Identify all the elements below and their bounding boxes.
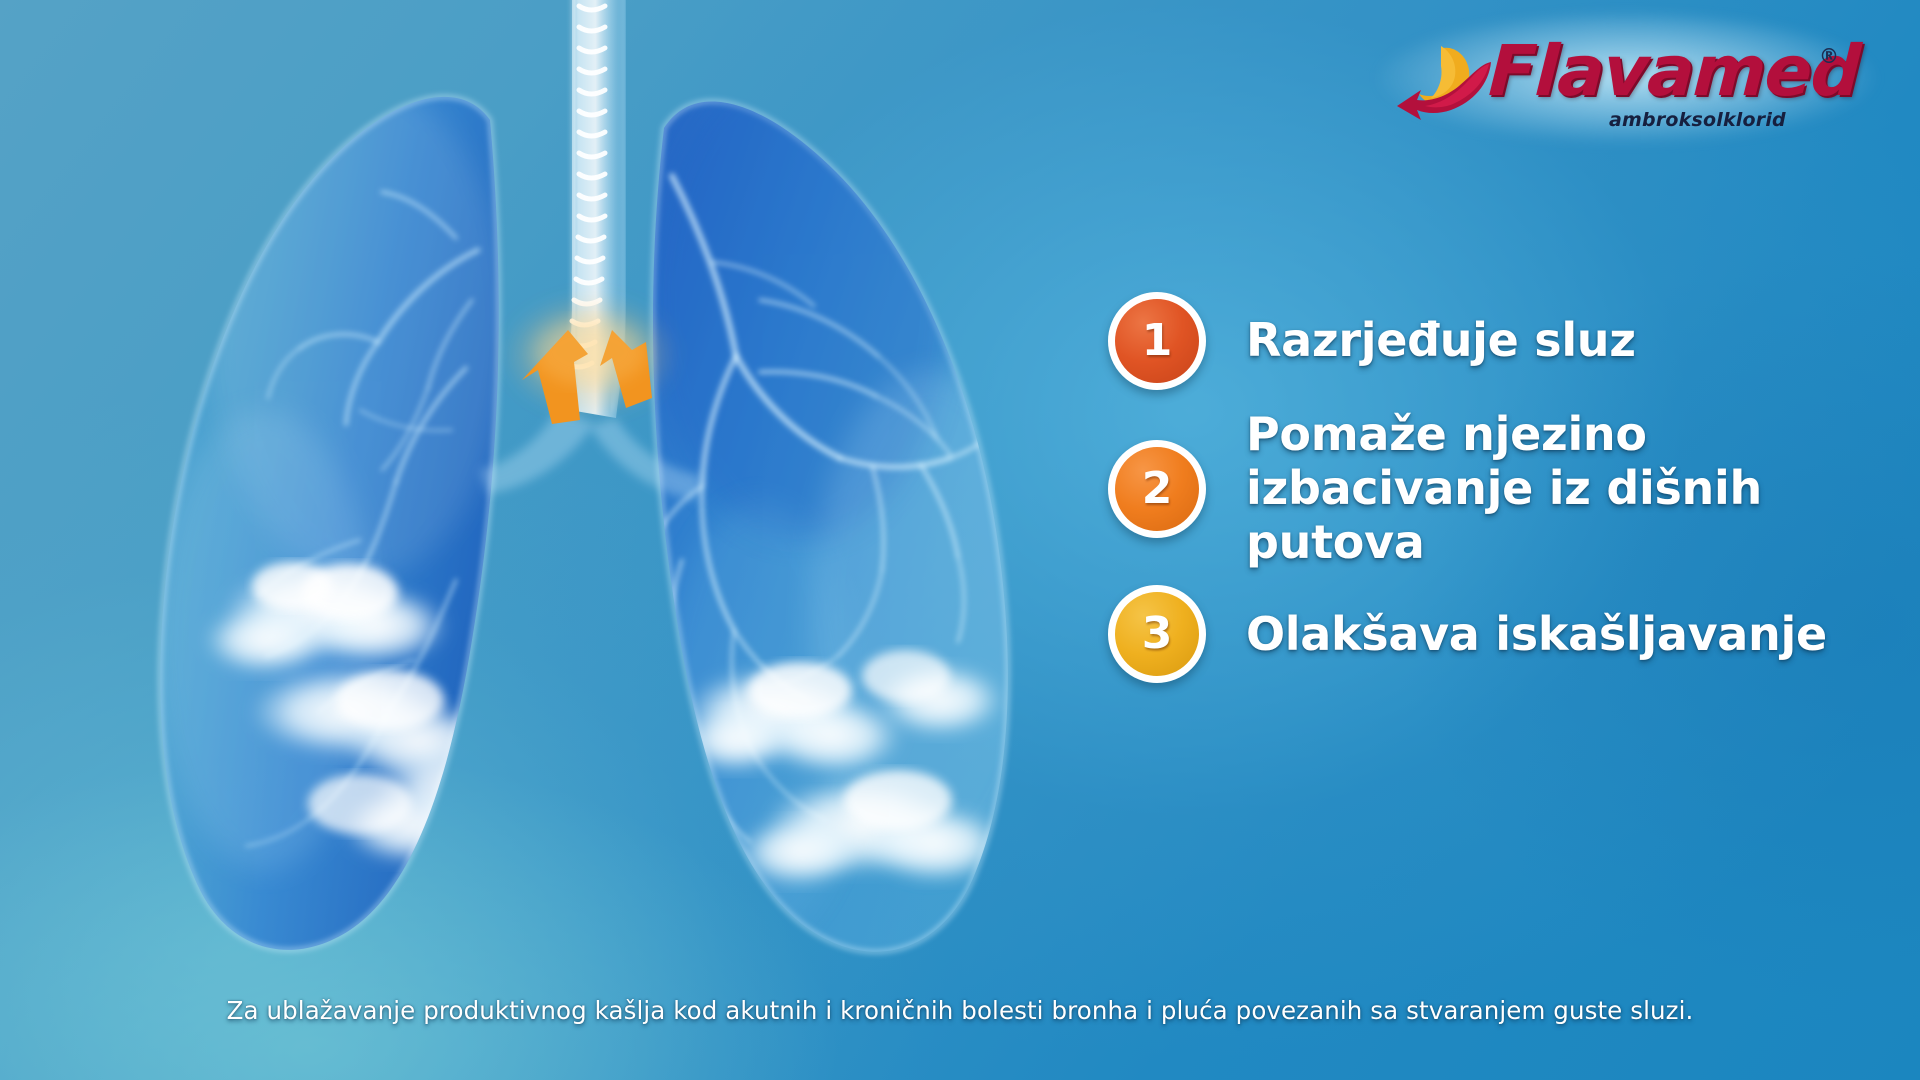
benefit-badge-3: 3 bbox=[1108, 585, 1206, 683]
benefit-label-3: Olakšava iskašljavanje bbox=[1246, 608, 1827, 662]
logo-subtitle: ambroksolklorid bbox=[1609, 109, 1786, 131]
benefit-item-3: 3 Olakšava iskašljavanje bbox=[1108, 585, 1888, 683]
flavamed-logo: Flavamed ® ambroksolklorid bbox=[1395, 24, 1865, 136]
benefit-badge-2: 2 bbox=[1108, 440, 1206, 538]
lungs-illustration bbox=[60, 0, 1180, 1010]
benefit-label-1: Razrjeđuje sluz bbox=[1246, 314, 1636, 368]
scene-stage: Flavamed ® ambroksolklorid 1 Razrjeđuje … bbox=[0, 0, 1920, 1080]
airflow-arrows bbox=[502, 293, 678, 424]
benefit-number-3: 3 bbox=[1142, 612, 1173, 656]
logo-wordmark: Flavamed bbox=[1487, 30, 1862, 112]
left-lung bbox=[155, 80, 544, 950]
bottom-caption: Za ublažavanje produktivnog kašlja kod a… bbox=[0, 996, 1920, 1025]
benefits-list: 1 Razrjeđuje sluz 2 Pomaže njezino izbac… bbox=[1108, 292, 1888, 701]
right-lung bbox=[644, 60, 1050, 952]
benefit-number-2: 2 bbox=[1142, 467, 1173, 511]
benefit-badge-1: 1 bbox=[1108, 292, 1206, 390]
registered-trademark-icon: ® bbox=[1819, 44, 1839, 68]
benefit-item-2: 2 Pomaže njezino izbacivanje iz dišnih p… bbox=[1108, 408, 1888, 569]
benefit-item-1: 1 Razrjeđuje sluz bbox=[1108, 292, 1888, 390]
benefit-label-2: Pomaže njezino izbacivanje iz dišnih put… bbox=[1246, 408, 1766, 569]
benefit-number-1: 1 bbox=[1142, 319, 1173, 363]
